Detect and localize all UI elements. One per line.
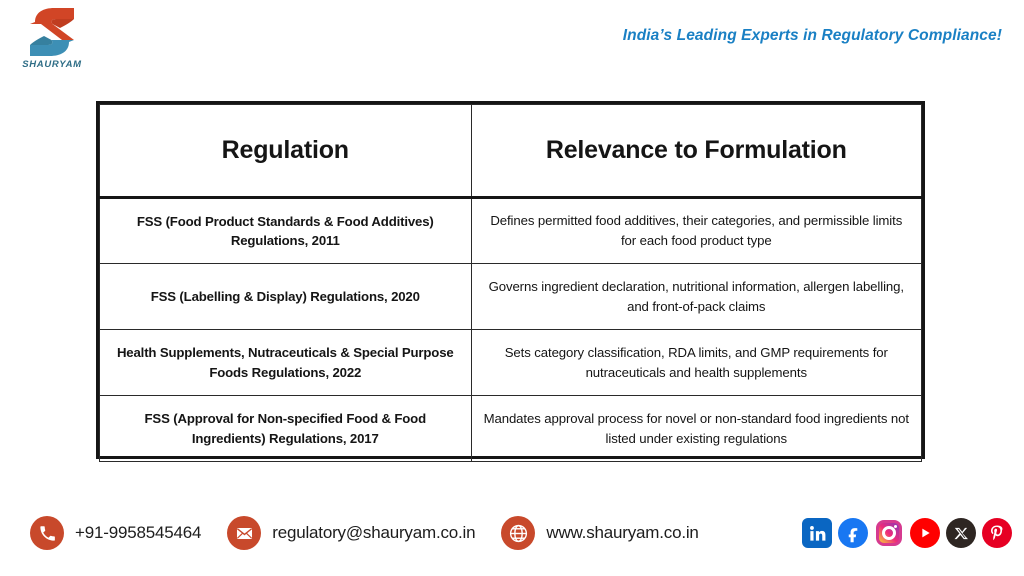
table-row: Health Supplements, Nutraceuticals & Spe… <box>100 330 922 396</box>
shauryam-logo-mark-icon <box>22 6 82 58</box>
linkedin-icon[interactable] <box>802 518 832 548</box>
regulations-table-container: Regulation Relevance to Formulation FSS … <box>96 101 925 459</box>
slide-root: SHAURYAM India’s Leading Experts in Regu… <box>0 0 1024 576</box>
contact-phone-label: +91-9958545464 <box>75 523 201 543</box>
contact-email[interactable]: regulatory@shauryam.co.in <box>227 516 475 550</box>
brand-logo: SHAURYAM <box>12 6 92 78</box>
email-icon <box>227 516 261 550</box>
table-row: FSS (Food Product Standards & Food Addit… <box>100 198 922 264</box>
cell-regulation: FSS (Labelling & Display) Regulations, 2… <box>100 264 472 330</box>
column-header-relevance: Relevance to Formulation <box>471 105 921 198</box>
instagram-lens <box>882 526 896 540</box>
column-header-regulation: Regulation <box>100 105 472 198</box>
phone-icon <box>30 516 64 550</box>
cell-regulation: Health Supplements, Nutraceuticals & Spe… <box>100 330 472 396</box>
instagram-camera-frame <box>876 520 902 546</box>
logo-wordmark: SHAURYAM <box>22 59 82 70</box>
cell-relevance: Governs ingredient declaration, nutritio… <box>471 264 921 330</box>
youtube-icon[interactable] <box>910 518 940 548</box>
table-header-row: Regulation Relevance to Formulation <box>100 105 922 198</box>
contact-phone[interactable]: +91-9958545464 <box>30 516 201 550</box>
regulations-table: Regulation Relevance to Formulation FSS … <box>99 104 922 462</box>
slide-header: SHAURYAM India’s Leading Experts in Regu… <box>0 0 1024 92</box>
social-links-row <box>802 518 1012 548</box>
instagram-icon[interactable] <box>874 518 904 548</box>
cell-regulation: FSS (Approval for Non-specified Food & F… <box>100 396 472 462</box>
pinterest-icon[interactable] <box>982 518 1012 548</box>
cell-relevance: Defines permitted food additives, their … <box>471 198 921 264</box>
table-row: FSS (Approval for Non-specified Food & F… <box>100 396 922 462</box>
x-twitter-icon[interactable] <box>946 518 976 548</box>
header-tagline: India’s Leading Experts in Regulatory Co… <box>623 27 1002 45</box>
globe-icon <box>501 516 535 550</box>
cell-regulation: FSS (Food Product Standards & Food Addit… <box>100 198 472 264</box>
contact-info-row: +91-9958545464 regulatory@shauryam.co.in <box>30 516 725 550</box>
cell-relevance: Sets category classification, RDA limits… <box>471 330 921 396</box>
slide-footer: +91-9958545464 regulatory@shauryam.co.in <box>0 490 1024 576</box>
contact-email-label: regulatory@shauryam.co.in <box>272 523 475 543</box>
cell-relevance: Mandates approval process for novel or n… <box>471 396 921 462</box>
facebook-icon[interactable] <box>838 518 868 548</box>
table-row: FSS (Labelling & Display) Regulations, 2… <box>100 264 922 330</box>
contact-website-label: www.shauryam.co.in <box>546 523 698 543</box>
contact-website[interactable]: www.shauryam.co.in <box>501 516 698 550</box>
